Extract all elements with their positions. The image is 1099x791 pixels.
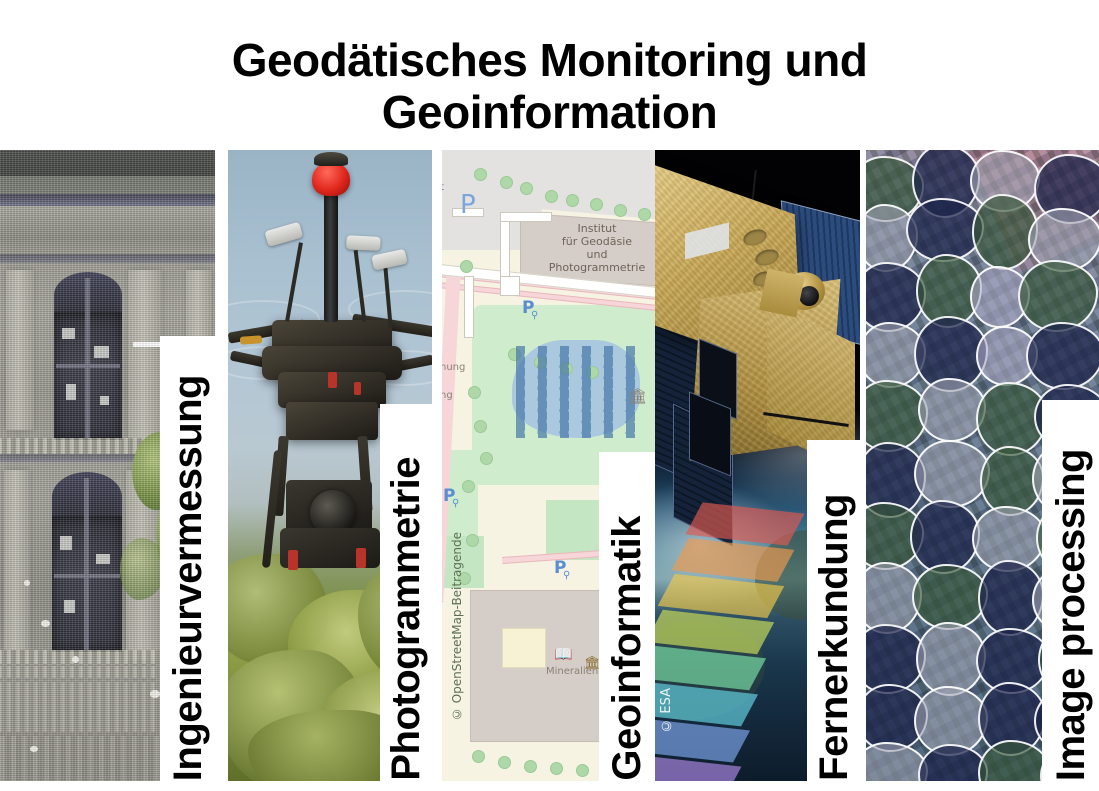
page-title: Geodätisches Monitoring und Geoinformati… [0, 34, 1099, 138]
panel-caption-geoinformatik: Geoinformatik [605, 516, 649, 781]
map-label-hung: hung [442, 362, 465, 373]
statue-icon: 🏛 [628, 387, 647, 405]
bike-icon-3: ⚲ [563, 570, 570, 581]
esa-attribution: © ESA [659, 688, 674, 733]
caption-plate-ingenieurvermessung: Ingenieurvermessung [160, 336, 215, 781]
panel-caption-image-processing: Image processing [1049, 449, 1093, 781]
bike-icon-1: ⚲ [531, 310, 538, 321]
caption-plate-photogrammetrie: Photogrammetrie [380, 404, 432, 781]
bike-icon-2: ⚲ [452, 498, 459, 509]
caption-plate-image-processing: Image processing [1042, 400, 1099, 781]
map-label-mineralien: Mineralien [546, 666, 598, 677]
panel-image-processing[interactable]: Image processing [866, 150, 1099, 781]
osm-attribution: © OpenStreetMap-Beitragende [450, 532, 464, 721]
book-icon: 📖 [554, 645, 573, 663]
parking-icon-large: P [460, 190, 476, 220]
map-label-ng: ng [442, 390, 453, 401]
panel-ingenieurvermessung[interactable]: Ingenieurvermessung [0, 150, 215, 781]
panel-strip: Ingenieurvermessung [0, 150, 1099, 781]
caption-plate-geoinformatik: Geoinformatik [599, 452, 655, 781]
panel-photogrammetrie[interactable]: Photogrammetrie [228, 150, 432, 781]
panel-geoinformatik[interactable]: P P ⚲ P ⚲ P ⚲ 🏛 📖 🏛 Institut für Geodäsi… [442, 150, 655, 781]
panel-fernerkundung[interactable]: © ESA Fernerkundung [655, 150, 860, 781]
map-label-top-left: t [442, 182, 444, 193]
panel-caption-ingenieurvermessung: Ingenieurvermessung [166, 375, 210, 781]
map-label-institut: Institut für Geodäsie und Photogrammetri… [534, 222, 655, 274]
panel-caption-fernerkundung: Fernerkundung [812, 494, 856, 781]
caption-plate-fernerkundung: Fernerkundung [807, 440, 860, 781]
panel-caption-photogrammetrie: Photogrammetrie [384, 457, 428, 781]
